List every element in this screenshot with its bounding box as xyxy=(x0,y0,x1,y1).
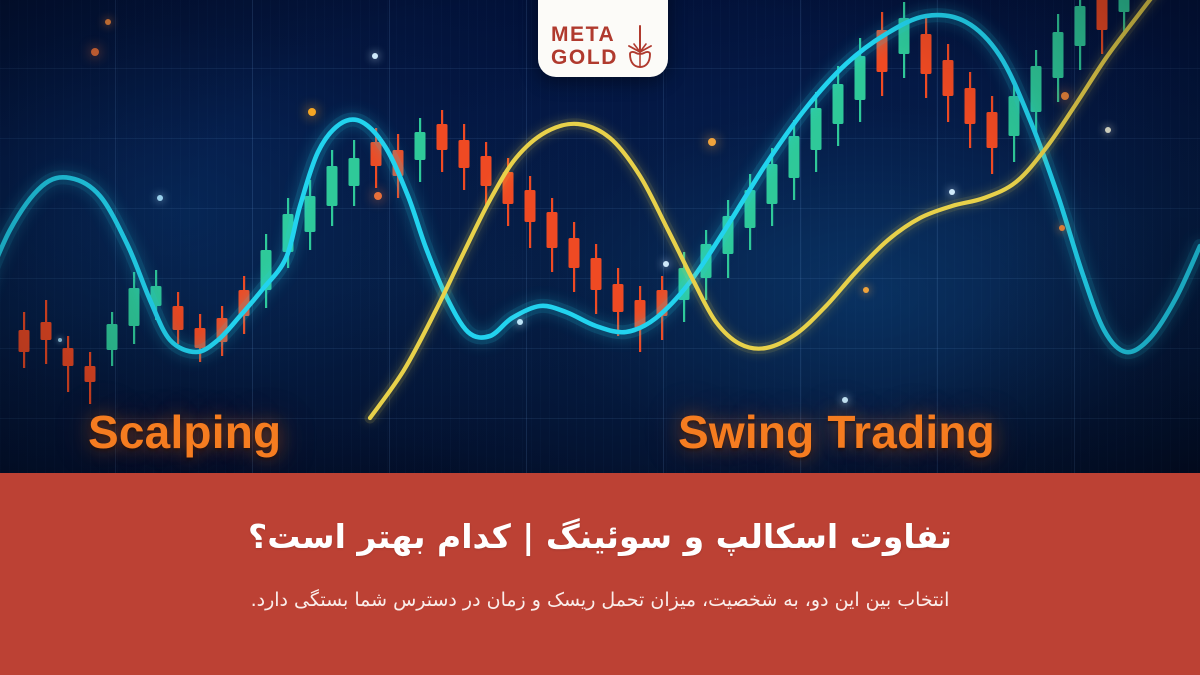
banner-subtitle: انتخاب بین این دو، به شخصیت، میزان تحمل … xyxy=(251,586,950,615)
logo-text-gold: GOLD xyxy=(551,47,618,68)
chart-label-scalping: Scalping xyxy=(88,405,281,459)
brand-logo[interactable]: META GOLD xyxy=(538,0,668,77)
banner-title: تفاوت اسکالپ و سوئینگ | کدام بهتر است؟ xyxy=(248,516,952,559)
caption-banner: تفاوت اسکالپ و سوئینگ | کدام بهتر است؟ ا… xyxy=(0,473,1200,675)
chart-label-swing-trading: Swing Trading xyxy=(678,405,995,459)
logo-text-meta: META xyxy=(551,24,618,45)
tulip-flower-icon xyxy=(625,24,655,68)
infographic-root: Scalping Swing Trading META GOLD تفاوت ا… xyxy=(0,0,1200,675)
